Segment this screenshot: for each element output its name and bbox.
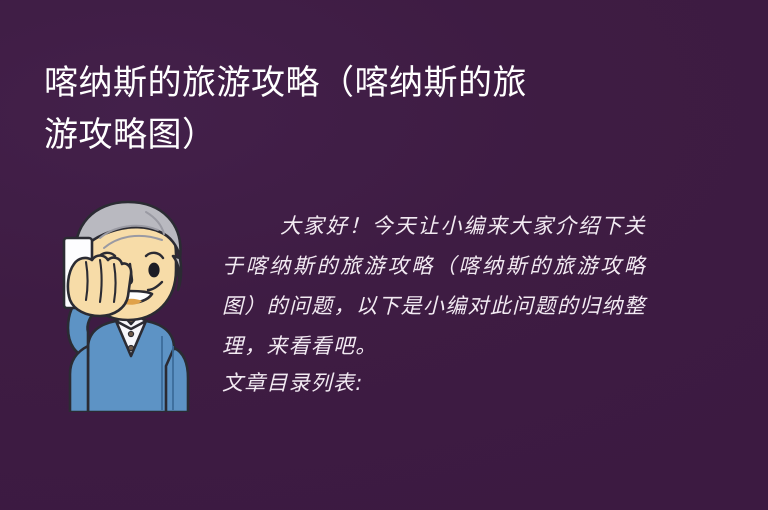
article-header-card: 喀纳斯的旅游攻略（喀纳斯的旅 游攻略图）: [0, 0, 768, 510]
page-title-line-2: 游攻略图）: [44, 109, 644, 161]
elderly-man-on-phone-icon: [42, 196, 198, 412]
shirt-buttons: [128, 317, 133, 350]
elderly-man-on-phone-illustration: [42, 196, 198, 412]
page-title-line-1: 喀纳斯的旅游攻略（喀纳斯的旅: [44, 57, 644, 109]
hand: [68, 256, 131, 317]
toc-heading: 文章目录列表:: [222, 366, 646, 400]
shirt-button-2: [128, 331, 133, 336]
sweater-right-arm: [166, 348, 188, 412]
intro-paragraph: 大家好！今天让小编来大家介绍下关于喀纳斯的旅游攻略（喀纳斯的旅游攻略图）的问题，…: [222, 206, 646, 366]
right-eye: [148, 263, 159, 278]
shirt-button-3: [128, 345, 133, 350]
sweater-left-sleeve: [70, 346, 88, 412]
page-title: 喀纳斯的旅游攻略（喀纳斯的旅 游攻略图）: [44, 57, 644, 161]
article-intro: 大家好！今天让小编来大家介绍下关于喀纳斯的旅游攻略（喀纳斯的旅游攻略图）的问题，…: [222, 206, 646, 400]
